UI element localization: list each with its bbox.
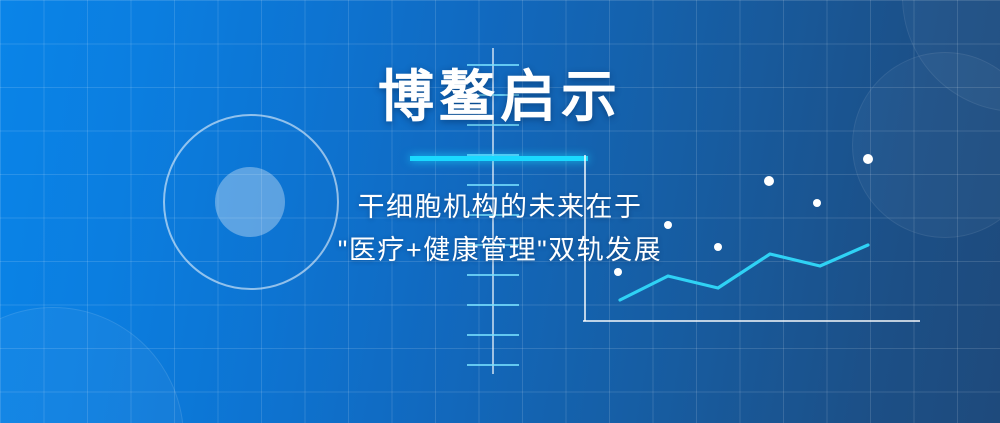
ruler-tick-9 <box>467 334 519 336</box>
page-title: 博鳌启示 <box>0 66 1000 129</box>
chart-dot-5 <box>863 154 873 164</box>
ruler-tick-8 <box>467 304 519 306</box>
chart-dot-3 <box>764 176 774 186</box>
page-subtitle: 干细胞机构的未来在于 "医疗+健康管理"双轨发展 <box>0 186 1000 271</box>
bottom-left-circle-decoration <box>0 307 184 423</box>
title-accent-bar <box>410 156 588 161</box>
ruler-tick-10 <box>467 364 519 366</box>
subtitle-line-2: "医疗+健康管理"双轨发展 <box>0 229 1000 272</box>
subtitle-line-1: 干细胞机构的未来在于 <box>0 186 1000 229</box>
ruler-tick-7 <box>467 274 519 276</box>
promo-banner: 博鳌启示 干细胞机构的未来在于 "医疗+健康管理"双轨发展 <box>0 0 1000 423</box>
